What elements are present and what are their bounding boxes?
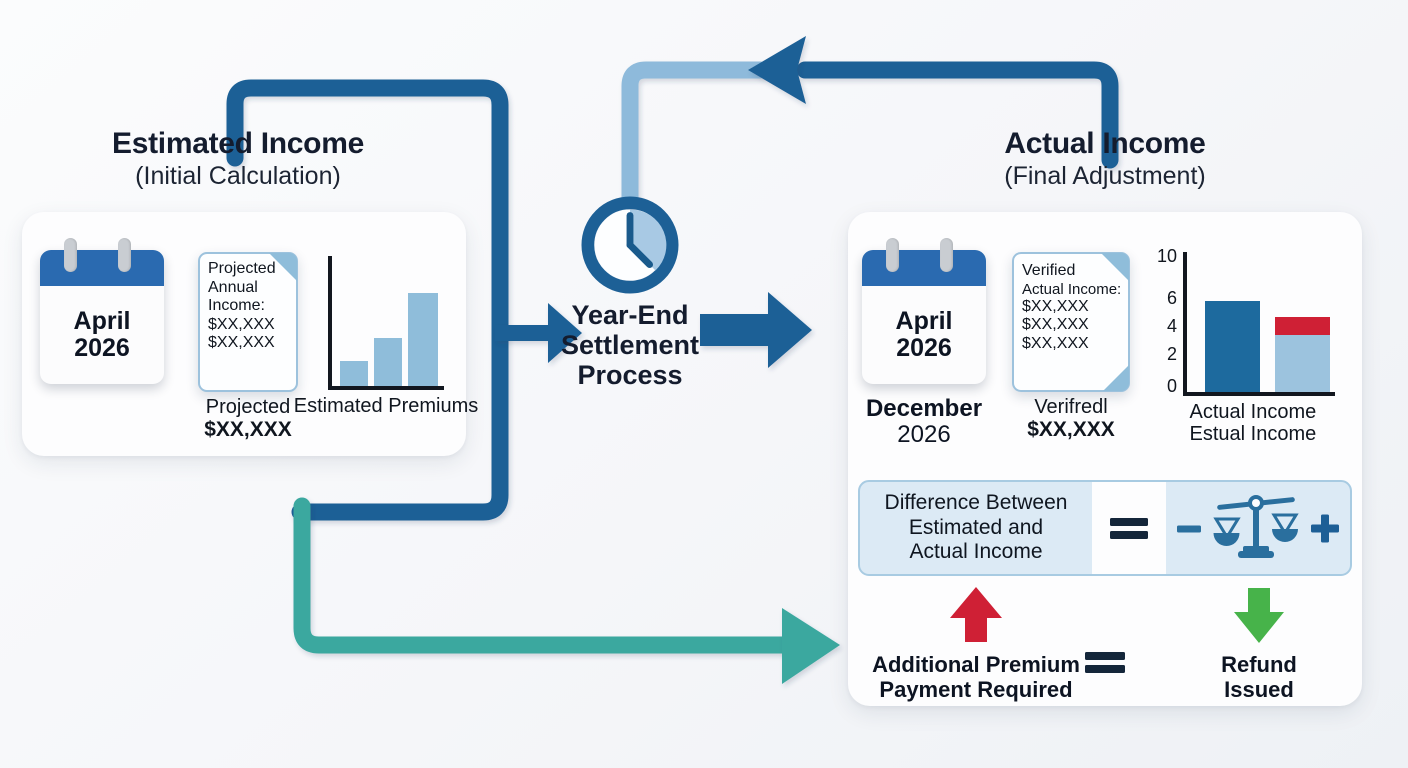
settlement-label-line: Process <box>500 360 760 390</box>
up-arrow-icon <box>945 584 1007 646</box>
verified-income-document: Verified Actual Income: $XX,XXX $XX,XXX … <box>1012 252 1130 392</box>
outcome-label-line: Refund <box>1166 653 1352 678</box>
document-line: Income: <box>208 297 290 316</box>
outcome-label-line: Additional Premium <box>858 653 1094 678</box>
chart-y-axis <box>1183 252 1187 396</box>
teal-arrowhead <box>782 608 840 684</box>
calendar-year: 2026 <box>74 335 130 362</box>
chart-bar <box>408 293 438 386</box>
scales-icon <box>1210 489 1302 567</box>
chart-category-labels: Actual Income Estual Income <box>1190 401 1317 446</box>
right-heading-main: Actual Income <box>905 128 1305 160</box>
calendar-ring-right <box>118 238 131 272</box>
calendar-header-band <box>862 250 986 286</box>
verified-caption-label: Verifredl <box>1008 396 1134 418</box>
settlement-label-line: Year-End <box>500 300 760 330</box>
clock-icon <box>581 196 679 294</box>
document-line: Projected <box>208 260 290 279</box>
refund-label: Refund Issued <box>1166 653 1352 702</box>
additional-premium-label: Additional Premium Payment Required <box>858 653 1094 702</box>
chart-bar <box>374 338 402 386</box>
outcome-label-line: Payment Required <box>858 678 1094 703</box>
chart-y-tick: 2 <box>1167 345 1177 363</box>
right-section-heading: Actual Income (Final Adjustment) <box>905 128 1305 192</box>
document-text-block: Projected Annual Income: $XX,XXX $XX,XXX <box>208 260 290 353</box>
calendar-ring-right <box>940 238 953 272</box>
right-heading-sub: (Final Adjustment) <box>905 162 1305 192</box>
year-end-settlement-block: Year-End Settlement Process <box>500 196 760 391</box>
calendar-caption-line: 2026 <box>848 422 1000 448</box>
actual-calendar-caption: December 2026 <box>848 396 1000 449</box>
left-heading-sub: (Initial Calculation) <box>28 162 448 192</box>
diagram-canvas: Estimated Income (Initial Calculation) A… <box>0 0 1408 768</box>
difference-label: Difference Between Estimated and Actual … <box>860 482 1092 574</box>
calendar-body: April 2026 <box>862 250 986 384</box>
chart-y-tick: 10 <box>1157 247 1177 265</box>
document-line: Verified <box>1022 262 1122 281</box>
equals-sign-icon <box>1092 482 1166 574</box>
chart-category-label: Actual Income <box>1190 401 1317 423</box>
chart-y-axis <box>328 256 332 390</box>
projected-caption-label: Projected <box>186 396 310 418</box>
calendar-ring-left <box>886 238 899 272</box>
additional-payment-connector <box>302 506 790 645</box>
left-section-heading: Estimated Income (Initial Calculation) <box>28 128 448 192</box>
chart-bar-actual-income <box>1205 301 1260 392</box>
plus-sign-icon <box>1308 511 1342 545</box>
refund-outcome: Refund Issued <box>1166 584 1352 702</box>
settlement-process-label: Year-End Settlement Process <box>500 300 760 391</box>
actual-vs-estimated-chart: 10 6 4 2 0 Actual Income Estual Income <box>1183 252 1335 396</box>
outcome-label-line: Issued <box>1166 678 1352 703</box>
estimated-calendar-icon: April 2026 <box>40 238 164 384</box>
document-line: Actual Income: <box>1022 281 1122 298</box>
projected-income-document: Projected Annual Income: $XX,XXX $XX,XXX <box>198 252 298 392</box>
document-line: $XX,XXX <box>208 334 290 353</box>
estimated-premiums-chart: Estimated Premiums <box>328 256 444 390</box>
balance-formula-group <box>1166 482 1350 574</box>
verified-caption-value: $XX,XXX <box>1008 418 1134 442</box>
chart-x-axis <box>328 386 444 390</box>
calendar-date-text: April 2026 <box>862 286 986 384</box>
actual-calendar-icon: April 2026 <box>862 238 986 384</box>
difference-label-line: Estimated and <box>885 516 1068 541</box>
calendar-body: April 2026 <box>40 250 164 384</box>
left-heading-main: Estimated Income <box>28 128 448 160</box>
calendar-month: April <box>74 308 131 335</box>
document-fold-corner-bottom-icon <box>1103 365 1129 391</box>
settlement-label-line: Settlement <box>500 330 760 360</box>
outcome-equals-sign-icon <box>1083 649 1127 682</box>
feedback-riser-connector <box>630 70 760 200</box>
chart-bar-shortfall-segment <box>1275 317 1330 335</box>
calendar-month: April <box>896 308 953 335</box>
calendar-ring-left <box>64 238 77 272</box>
chart-bar-estimated-income <box>1275 335 1330 392</box>
down-arrow-icon <box>1230 584 1288 646</box>
document-line: $XX,XXX <box>208 316 290 335</box>
projected-caption: Projected $XX,XXX <box>186 396 310 442</box>
chart-y-tick: 4 <box>1167 317 1177 335</box>
minus-sign-icon <box>1174 513 1204 543</box>
chart-bar <box>340 361 368 386</box>
calendar-date-text: April 2026 <box>40 286 164 384</box>
additional-premium-outcome: Additional Premium Payment Required <box>858 584 1094 702</box>
difference-label-line: Actual Income <box>885 540 1068 565</box>
calendar-year: 2026 <box>896 335 952 362</box>
document-line: $XX,XXX <box>1022 316 1122 335</box>
calendar-caption-line: December <box>848 396 1000 422</box>
outcome-row: Additional Premium Payment Required Refu… <box>858 584 1352 696</box>
difference-label-line: Difference Between <box>885 491 1068 516</box>
chart-category-label: Estual Income <box>1190 423 1317 445</box>
document-line: $XX,XXX <box>1022 298 1122 317</box>
document-line: Annual <box>208 279 290 298</box>
document-text-block: Verified Actual Income: $XX,XXX $XX,XXX … <box>1022 262 1122 354</box>
document-line: $XX,XXX <box>1022 335 1122 354</box>
calendar-header-band <box>40 250 164 286</box>
difference-formula-bar: Difference Between Estimated and Actual … <box>858 480 1352 576</box>
chart-y-tick: 6 <box>1167 289 1177 307</box>
chart-y-tick: 0 <box>1167 377 1177 395</box>
projected-caption-value: $XX,XXX <box>186 418 310 442</box>
verified-caption: Verifredl $XX,XXX <box>1008 396 1134 442</box>
chart-x-axis <box>1183 392 1335 396</box>
chart-x-label: Estimated Premiums <box>294 395 479 417</box>
